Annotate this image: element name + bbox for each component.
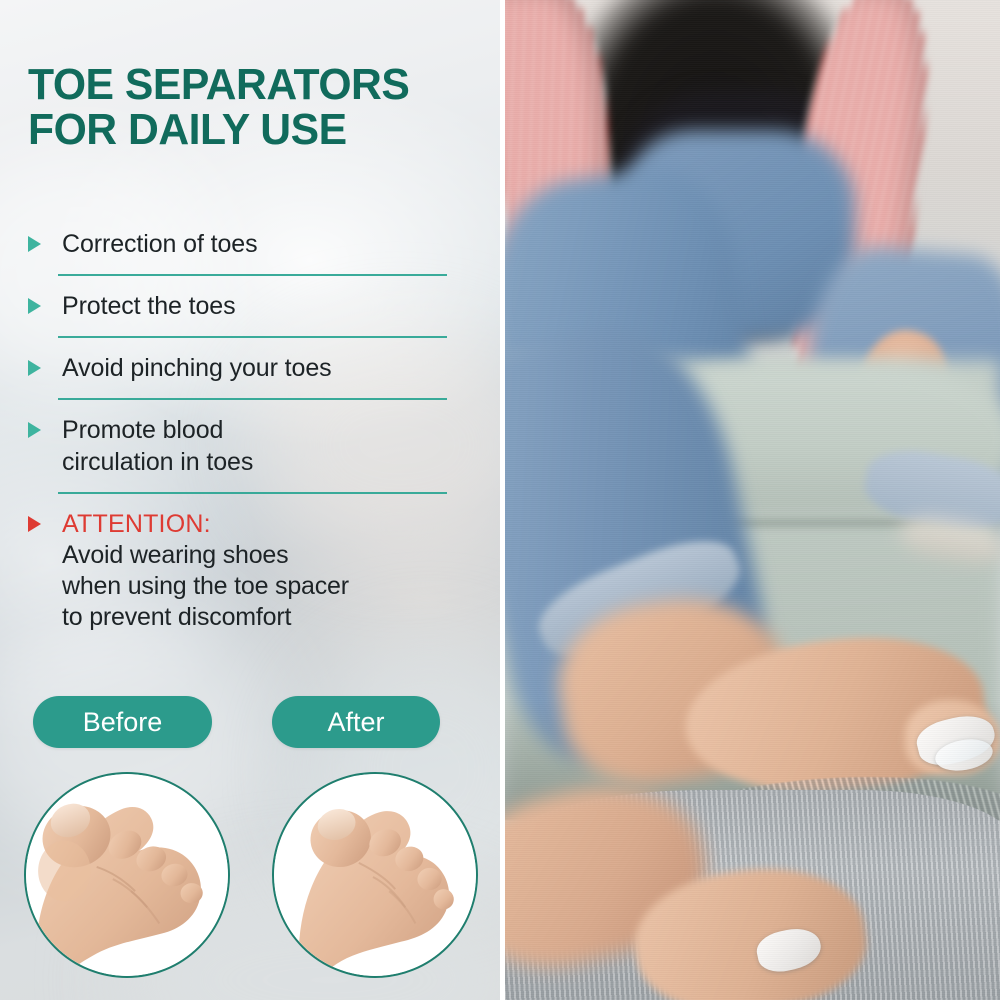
list-divider — [58, 336, 447, 338]
after-photo-circle — [272, 772, 478, 978]
benefit-label: Correction of toes — [62, 228, 476, 260]
benefit-item: Protect the toes — [26, 290, 476, 322]
list-divider — [58, 274, 447, 276]
triangle-right-icon — [28, 360, 41, 376]
foot-corrected-illustration — [274, 774, 476, 976]
after-label-pill: After — [272, 696, 440, 748]
title-line-2: FOR DAILY USE — [28, 107, 465, 152]
triangle-right-icon — [28, 422, 41, 438]
foot-with-bunion-illustration — [26, 774, 228, 976]
comparison-photos — [24, 772, 474, 982]
benefits-list: Correction of toes Protect the toes Avoi… — [26, 228, 476, 633]
lifestyle-photo — [505, 0, 1000, 1000]
triangle-right-icon — [28, 236, 41, 252]
benefit-label: Protect the toes — [62, 290, 476, 322]
triangle-right-alert-icon — [28, 516, 41, 532]
benefit-item: Avoid pinching your toes — [26, 352, 476, 384]
title-line-1: TOE SEPARATORS — [28, 62, 465, 107]
left-info-panel: TOE SEPARATORS FOR DAILY USE Correction … — [0, 0, 500, 1000]
triangle-right-icon — [28, 298, 41, 314]
attention-label: ATTENTION: — [62, 508, 476, 540]
before-foot-image — [26, 774, 228, 976]
list-divider — [58, 492, 447, 494]
attention-body: Avoid wearing shoes when using the toe s… — [62, 540, 476, 633]
after-foot-image — [274, 774, 476, 976]
comparison-labels: Before After — [33, 696, 463, 750]
benefit-label: Promote blood circulation in toes — [62, 414, 476, 478]
before-photo-circle — [24, 772, 230, 978]
benefit-item: Correction of toes — [26, 228, 476, 260]
list-divider — [58, 398, 447, 400]
before-label-pill: Before — [33, 696, 212, 748]
poster-title: TOE SEPARATORS FOR DAILY USE — [28, 62, 478, 153]
benefit-item: Promote blood circulation in toes — [26, 414, 476, 478]
product-infographic: TOE SEPARATORS FOR DAILY USE Correction … — [0, 0, 1000, 1000]
attention-item: ATTENTION: Avoid wearing shoes when usin… — [26, 508, 476, 633]
benefit-label: Avoid pinching your toes — [62, 352, 476, 384]
